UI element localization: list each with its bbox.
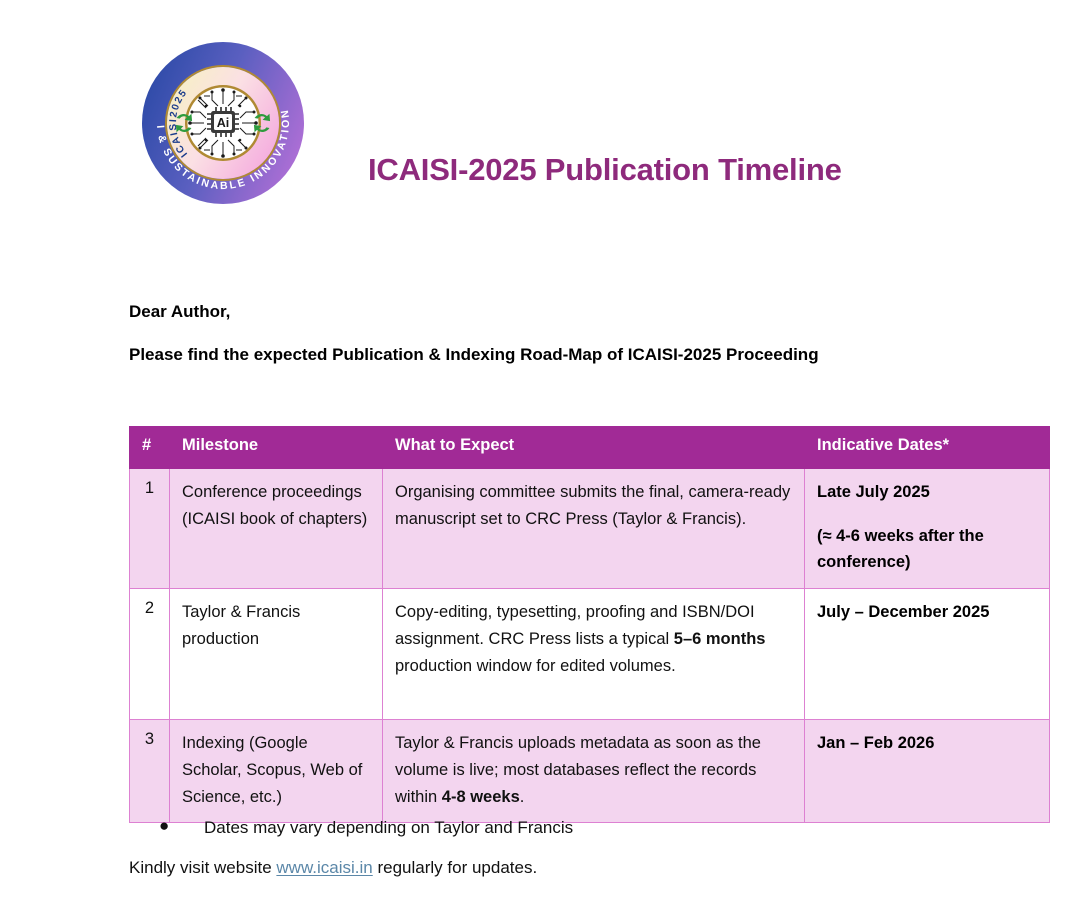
cell-dates: Jan – Feb 2026 [805, 720, 1050, 823]
note-text: Dates may vary depending on Taylor and F… [204, 818, 573, 837]
column-header-expect: What to Expect [383, 427, 805, 469]
closing-line: Kindly visit website www.icaisi.in regul… [129, 858, 537, 878]
cell-milestone: Indexing (Google Scholar, Scopus, Web of… [170, 720, 383, 823]
table-row: 2 Taylor & Francis production Copy-editi… [130, 589, 1050, 720]
table-row: 1 Conference proceedings (ICAISI book of… [130, 469, 1050, 589]
website-link[interactable]: www.icaisi.in [276, 858, 372, 877]
column-header-number: # [130, 427, 170, 469]
intro-paragraph: Please find the expected Publication & I… [129, 345, 819, 365]
timeline-table-wrapper: # Milestone What to Expect Indicative Da… [129, 426, 1049, 823]
cell-dates: Late July 2025 (≈ 4-6 weeks after the co… [805, 469, 1050, 589]
cell-milestone: Conference proceedings (ICAISI book of c… [170, 469, 383, 589]
column-header-milestone: Milestone [170, 427, 383, 469]
date-sub: (≈ 4-6 weeks after the conference) [817, 523, 1037, 576]
date-main: Late July 2025 [817, 483, 930, 501]
cell-expect: Taylor & Francis uploads metadata as soo… [383, 720, 805, 823]
list-item: ● Dates may vary depending on Taylor and… [129, 818, 573, 838]
cell-dates: July – December 2025 [805, 589, 1050, 720]
cell-number: 3 [130, 720, 170, 823]
date-main: Jan – Feb 2026 [817, 734, 934, 752]
closing-prefix: Kindly visit website [129, 858, 276, 877]
table-body: 1 Conference proceedings (ICAISI book of… [130, 469, 1050, 823]
date-main: July – December 2025 [817, 603, 989, 621]
cell-expect: Copy-editing, typesetting, proofing and … [383, 589, 805, 720]
cell-expect: Organising committee submits the final, … [383, 469, 805, 589]
logo-chip-label: Ai [217, 116, 230, 130]
salutation-text: Dear Author, [129, 302, 230, 322]
publication-timeline-table: # Milestone What to Expect Indicative Da… [129, 426, 1050, 823]
bullet-icon: ● [159, 817, 169, 834]
cell-number: 2 [130, 589, 170, 720]
notes-list: ● Dates may vary depending on Taylor and… [129, 818, 573, 838]
logo-graphic: AI & SUSTAINABLE INNOVATION ICAISI2025 [140, 40, 306, 206]
cell-number: 1 [130, 469, 170, 589]
icaisi-2025-logo: AI & SUSTAINABLE INNOVATION ICAISI2025 [140, 40, 306, 206]
page-header: AI & SUSTAINABLE INNOVATION ICAISI2025 [0, 0, 1092, 230]
table-row: 3 Indexing (Google Scholar, Scopus, Web … [130, 720, 1050, 823]
page-title: ICAISI-2025 Publication Timeline [368, 152, 842, 188]
closing-suffix: regularly for updates. [373, 858, 537, 877]
column-header-dates: Indicative Dates* [805, 427, 1050, 469]
cell-milestone: Taylor & Francis production [170, 589, 383, 720]
table-header-row: # Milestone What to Expect Indicative Da… [130, 427, 1050, 469]
